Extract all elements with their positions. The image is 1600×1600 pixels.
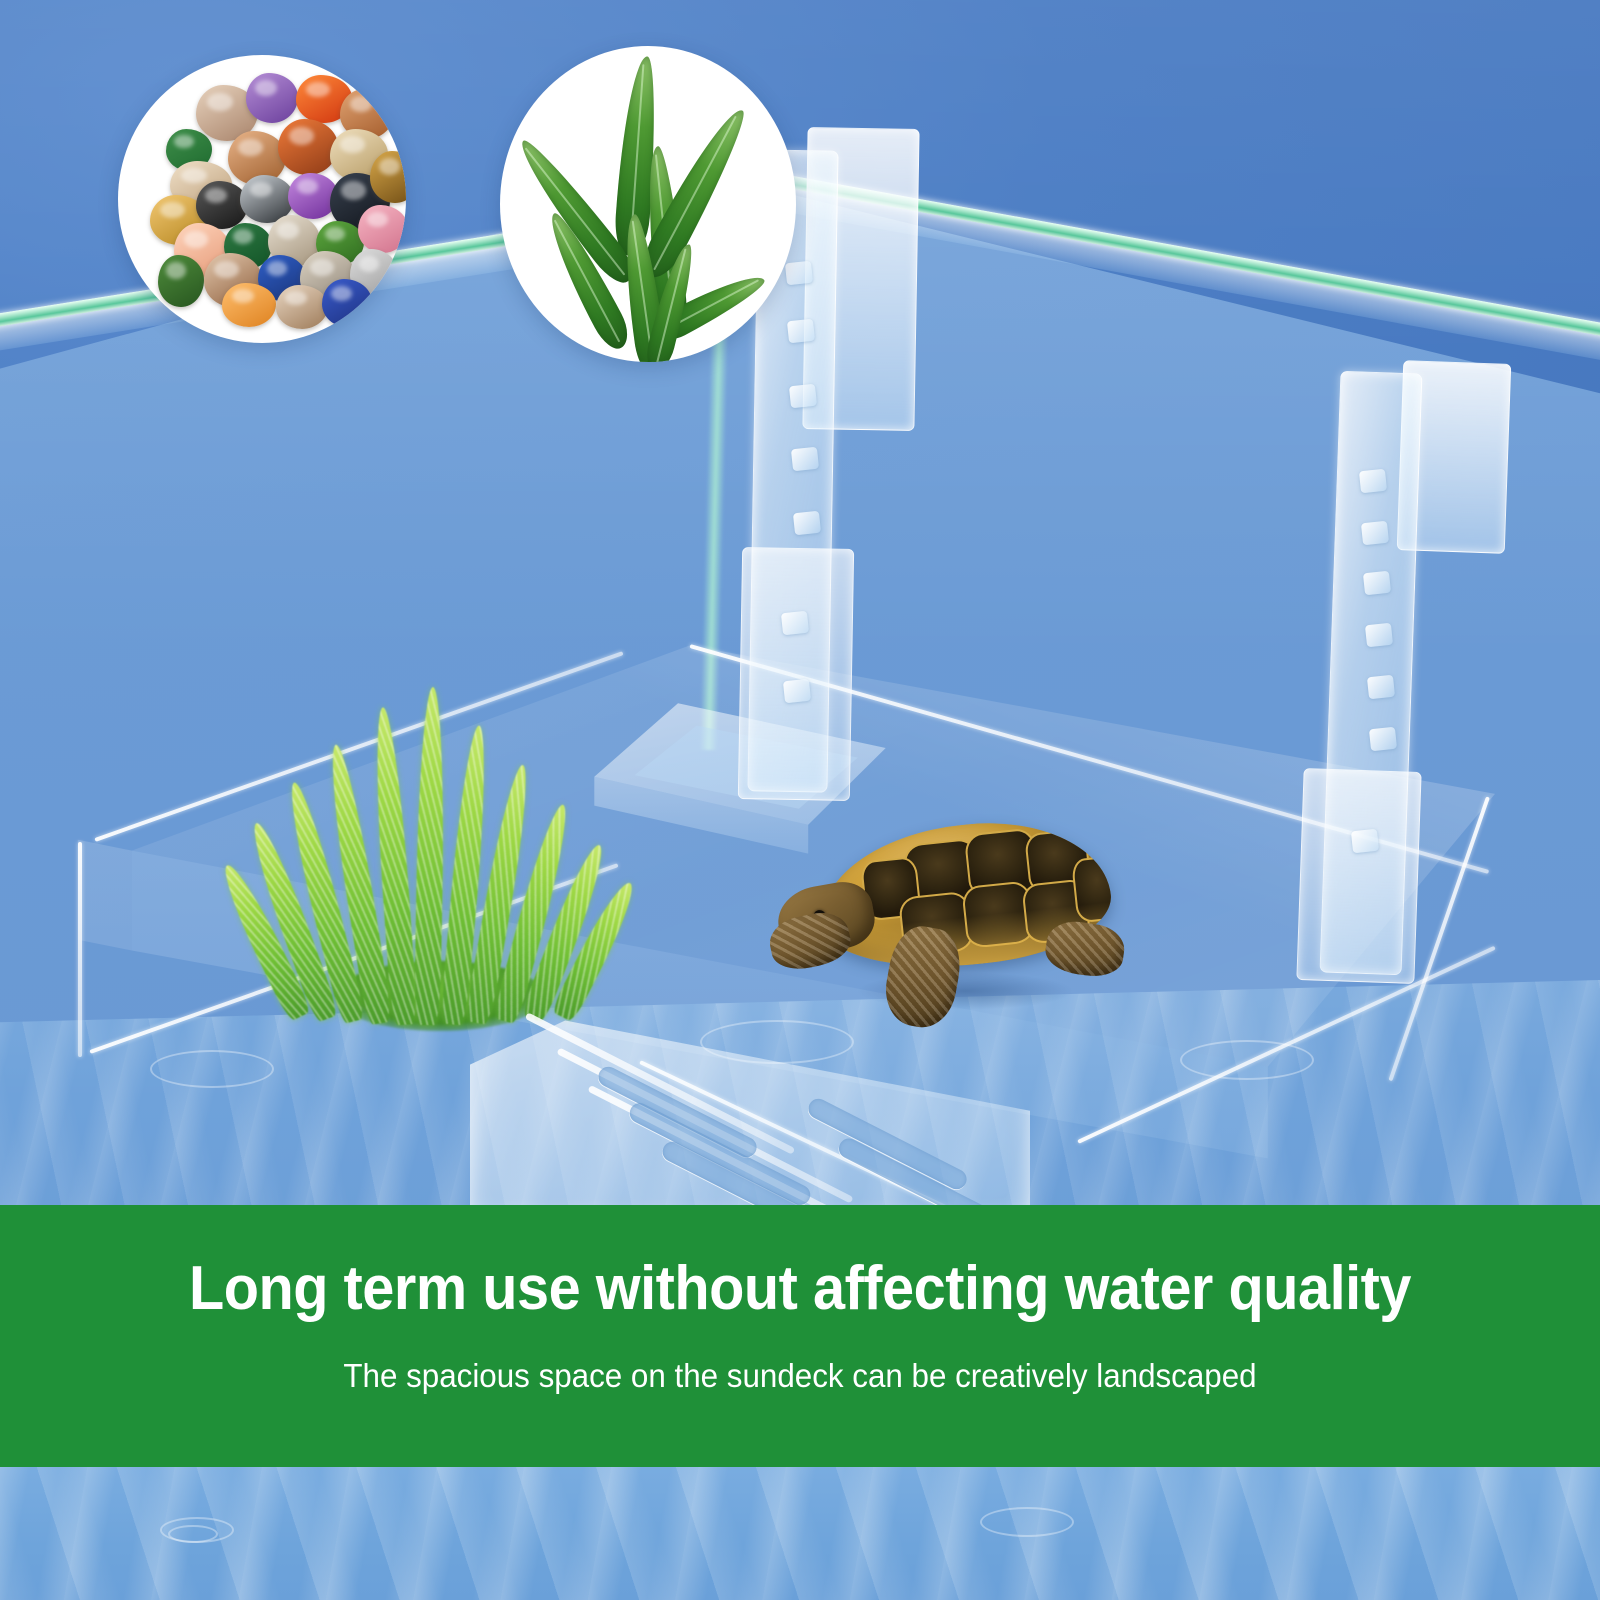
- tortoise: [760, 815, 1140, 1040]
- bottom-water-strip: [0, 1467, 1600, 1600]
- bracket-left-notch-7: [783, 679, 811, 704]
- deck-edge-left-vertical: [78, 842, 82, 1057]
- bracket-left-notch-3: [789, 384, 817, 409]
- bracket-left-notch-2: [787, 319, 815, 344]
- bracket-right-notch-4: [1365, 623, 1393, 648]
- slotted-climbing-ramp: [470, 1010, 1030, 1220]
- promo-banner: Long term use without affecting water qu…: [0, 1205, 1600, 1467]
- inset-plant: [500, 46, 796, 362]
- bracket-left-notch-4: [791, 447, 819, 472]
- bracket-right-notch-2: [1361, 521, 1389, 546]
- bracket-right-notch-6: [1369, 727, 1397, 752]
- banner-headline: Long term use without affecting water qu…: [56, 1253, 1544, 1324]
- aquatic-moss-plant: [245, 655, 625, 1025]
- bracket-right-notch-3: [1363, 571, 1391, 596]
- bracket-right-notch-5: [1367, 675, 1395, 700]
- bracket-left-foot: [738, 547, 854, 801]
- inset-stones: [118, 55, 406, 343]
- bracket-left-notch-6: [781, 611, 809, 636]
- bracket-right-notch-7: [1351, 829, 1379, 854]
- bracket-left-notch-5: [793, 511, 821, 536]
- banner-subhead: The spacious space on the sundeck can be…: [40, 1357, 1560, 1395]
- bracket-right-foot: [1296, 768, 1421, 984]
- product-scene: Long term use without affecting water qu…: [0, 0, 1600, 1600]
- bracket-left-notch-1: [785, 261, 813, 286]
- bracket-right-notch-1: [1359, 469, 1387, 494]
